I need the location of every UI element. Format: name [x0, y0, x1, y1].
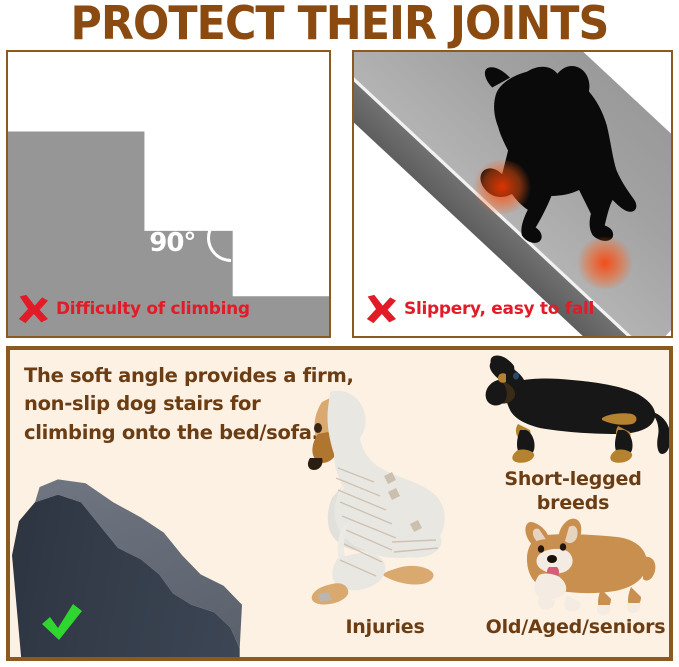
red-x-icon	[16, 294, 50, 324]
bandaged-dog-photo	[288, 372, 478, 612]
caption-text: Slippery, easy to fall	[404, 299, 594, 319]
caption-difficulty: Difficulty of climbing	[16, 294, 250, 324]
pet-label-injuries: Injuries	[310, 616, 460, 640]
panel-solution: The soft angle provides a firm, non-slip…	[6, 346, 673, 661]
foam-dog-stairs-icon	[12, 468, 242, 658]
pet-label-old-aged-seniors: Old/Aged/seniors	[468, 616, 673, 640]
panel-difficulty-of-climbing: 90° Difficulty of climbing	[6, 50, 331, 338]
dachshund-photo	[462, 354, 673, 474]
angle-label: 90°	[149, 228, 195, 258]
caption-text: Difficulty of climbing	[56, 299, 250, 319]
caption-slippery: Slippery, easy to fall	[364, 294, 594, 324]
infographic-page: PROTECT THEIR JOINTS 90° Difficulty of c…	[0, 0, 679, 667]
panel-slippery-ramp: Slippery, easy to fall	[352, 50, 673, 338]
page-title: PROTECT THEIR JOINTS	[24, 0, 655, 48]
corgi-photo	[505, 505, 665, 623]
pet-label-short-legged: Short-legged breeds	[478, 468, 668, 516]
green-check-icon	[40, 602, 84, 642]
red-x-icon	[364, 294, 398, 324]
